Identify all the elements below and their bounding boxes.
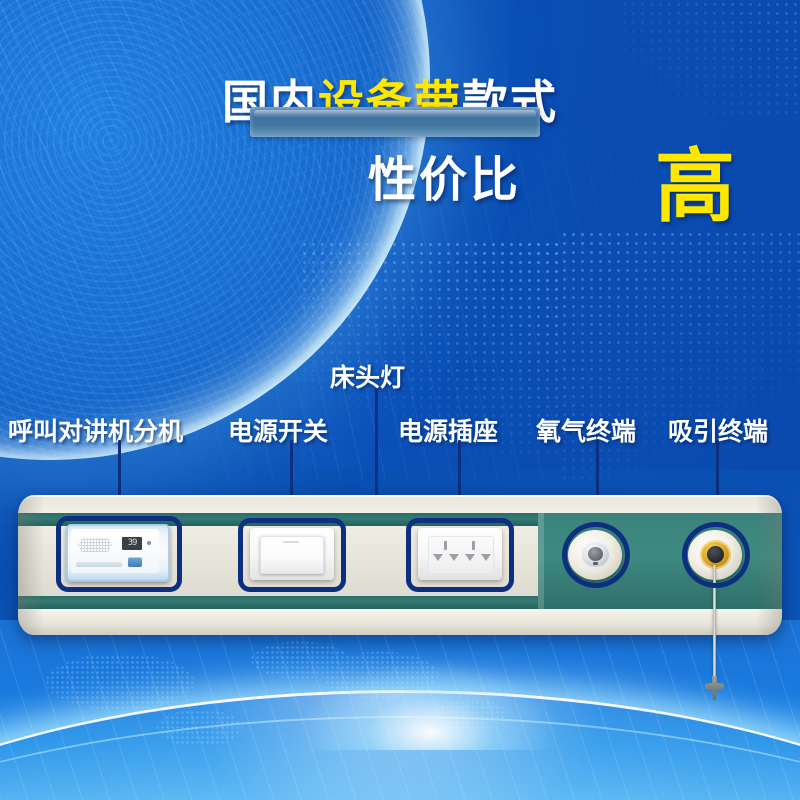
highlight-circle-suction-terminal <box>682 522 750 588</box>
callout-label-power-socket: 电源插座 <box>398 412 498 448</box>
bedside-lamp-gloss <box>254 110 536 118</box>
headline-text-gao: 高 <box>655 122 735 238</box>
callout-label-bed-lamp: 床头灯 <box>330 358 405 394</box>
highlight-box-power-switch <box>238 518 346 592</box>
panel-right-edge <box>756 495 782 635</box>
highlight-box-intercom <box>56 516 182 592</box>
panel-bottom-rail <box>18 609 782 635</box>
light-streaks-bottom <box>0 620 800 800</box>
background-bottom-zone <box>0 620 800 800</box>
panel-left-edge <box>18 495 44 635</box>
poster-canvas: 国内设备带款式 性价比 高 呼叫对讲机分机 电源开关 床头灯 电源插座 氧气终端… <box>0 0 800 800</box>
headline-block: 国内设备带款式 性价比 高 <box>0 78 800 226</box>
callout-label-intercom: 呼叫对讲机分机 <box>8 412 183 448</box>
headline-text-xingjiabi: 性价比 <box>368 140 521 210</box>
highlight-box-power-socket <box>406 518 514 592</box>
callout-label-power-switch: 电源开关 <box>228 412 328 448</box>
callout-label-oxygen-terminal: 氧气终端 <box>536 412 636 448</box>
panel-green-field-edge <box>538 513 544 609</box>
headline-line-2: 性价比 高 <box>0 140 800 226</box>
highlight-circle-oxygen-terminal <box>562 522 630 588</box>
